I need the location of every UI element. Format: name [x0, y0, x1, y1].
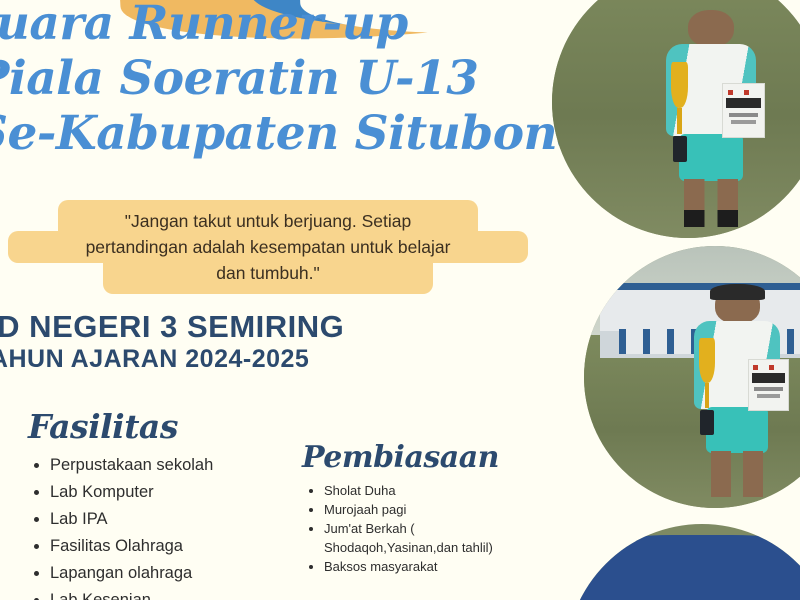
board-title-text [752, 373, 785, 383]
board-detail-text [757, 394, 781, 398]
trophy-icon [670, 62, 690, 162]
trophy-stem [677, 108, 682, 134]
cap-shape [710, 284, 765, 301]
poster-headline: Juara Runner-up Piala Soeratin U-13 Se-K… [0, 0, 594, 161]
board-subtitle-text [729, 113, 759, 117]
headline-line-1: Juara Runner-up [0, 0, 594, 51]
fasilitas-section: Fasilitas Perpustakaan sekolah Lab Kompu… [28, 408, 296, 600]
list-item: Murojaah pagi [324, 500, 552, 519]
list-item: Lab Kesenian [50, 587, 296, 600]
pembiasaan-list: Sholat Duha Murojaah pagi Jum'at Berkah … [302, 481, 552, 576]
school-name: SD NEGERI 3 SEMIRING [0, 310, 536, 344]
school-identity: SD NEGERI 3 SEMIRING TAHUN AJARAN 2024-2… [0, 310, 536, 374]
trophy-cup [699, 338, 715, 382]
blue-canopy-roof [566, 535, 800, 600]
board-subtitle-text [754, 387, 783, 391]
list-item: Lab Komputer [50, 479, 296, 506]
list-item: Sholat Duha [324, 481, 552, 500]
fasilitas-heading: Fasilitas [28, 408, 296, 446]
quote-box: "Jangan takut untuk berjuang. Setiap per… [8, 200, 528, 294]
pembiasaan-heading: Pembiasaan [302, 440, 552, 475]
trophy-base [700, 410, 714, 435]
list-item: Fasilitas Olahraga [50, 533, 296, 560]
board-detail-text [731, 120, 756, 124]
trophy-stem [705, 383, 710, 408]
quote-line-3: dan tumbuh." [103, 257, 433, 294]
quote-line-2: pertandingan adalah kesempatan untuk bel… [8, 231, 528, 263]
poster-canvas: Juara Runner-up Piala Soeratin U-13 Se-K… [0, 0, 800, 600]
photo-student-with-trophy-stadium [584, 246, 800, 508]
socks-shape [684, 210, 738, 227]
trophy-base [673, 136, 687, 162]
headline-line-2: Piala Soeratin U-13 [0, 51, 594, 106]
school-academic-year: TAHUN AJARAN 2024-2025 [0, 344, 536, 374]
list-item: Perpustakaan sekolah [50, 452, 296, 479]
list-item: Lapangan olahraga [50, 560, 296, 587]
student-figure [694, 288, 780, 498]
student-figure [666, 10, 756, 228]
board-title-text [726, 98, 761, 108]
board-logo-row [753, 365, 783, 370]
list-item: Baksos masyarakat [324, 557, 552, 576]
fasilitas-list: Perpustakaan sekolah Lab Komputer Lab IP… [28, 452, 296, 600]
photo-student-with-trophy-field [552, 0, 800, 238]
trophy-icon [697, 338, 716, 434]
head-shape [688, 10, 735, 47]
runner-up-board [748, 359, 790, 411]
pembiasaan-section: Pembiasaan Sholat Duha Murojaah pagi Jum… [302, 440, 552, 576]
list-item: Jum'at Berkah ( Shodaqoh,Yasinan,dan tah… [324, 519, 552, 557]
headline-line-3: Se-Kabupaten Situbondo [0, 106, 594, 161]
trophy-cup [671, 62, 688, 108]
photo-school-sports-canopy [566, 524, 800, 600]
board-logo-row [728, 90, 759, 95]
legs-shape [711, 451, 763, 497]
list-item: Lab IPA [50, 506, 296, 533]
runner-up-board [722, 83, 765, 137]
